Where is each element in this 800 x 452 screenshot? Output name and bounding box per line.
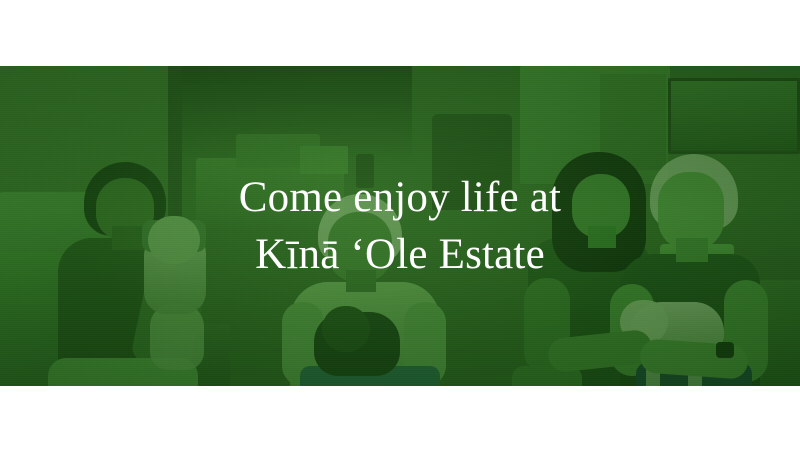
hero-background-photo (0, 66, 800, 386)
page: Come enjoy life at Kīnā ʻOle Estate (0, 0, 800, 452)
photo-grain-texture (0, 66, 800, 386)
hero-banner: Come enjoy life at Kīnā ʻOle Estate (0, 66, 800, 386)
